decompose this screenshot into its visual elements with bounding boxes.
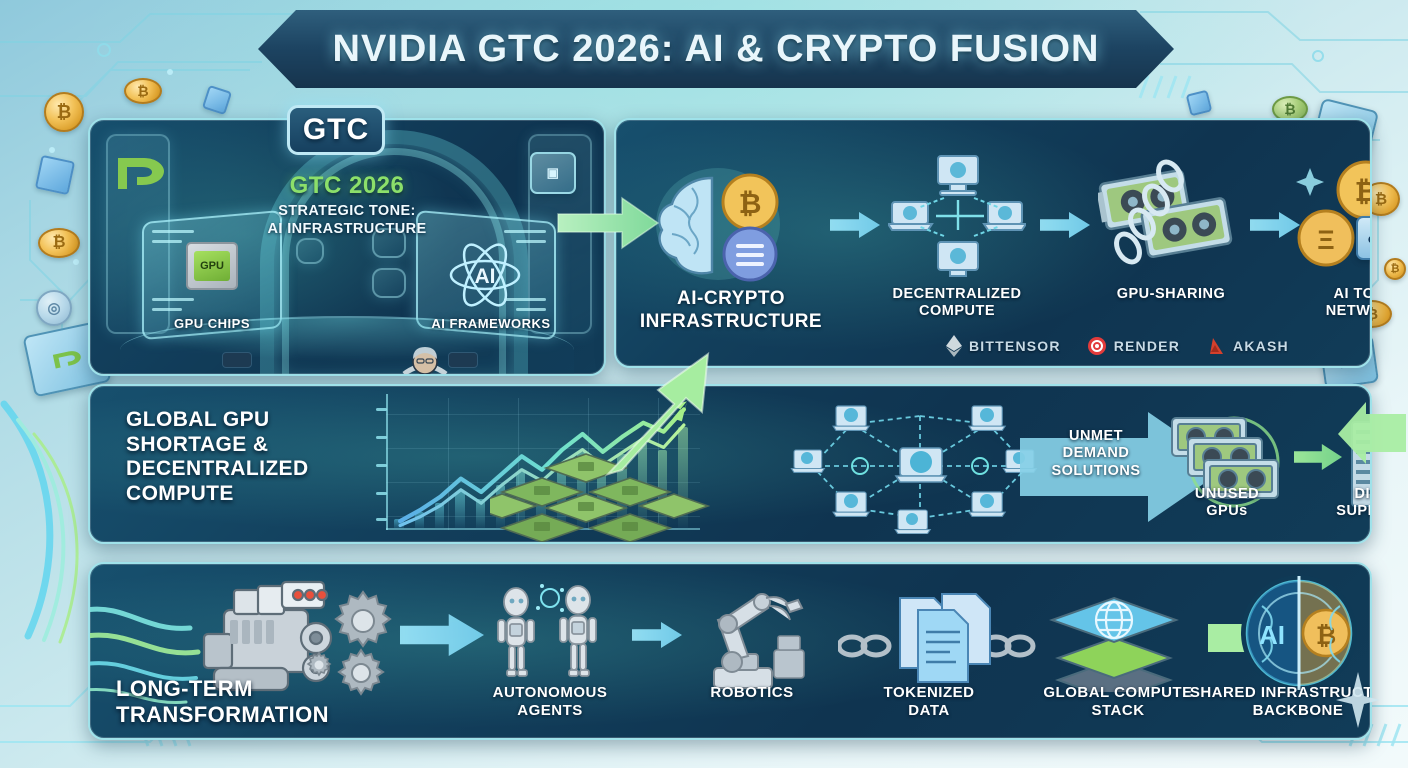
brand-render-label: RENDER <box>1114 338 1180 354</box>
shortage-node-1: UNUSED GPUs <box>1152 486 1302 521</box>
crypto-node-3-label-1: GPU-SHARING <box>1078 286 1264 303</box>
unmet-label-3: SOLUTIONS <box>1028 463 1164 480</box>
longterm-node-1: AUTONOMOUS AGENTS <box>470 684 630 720</box>
flow-arrow-keynote-to-crypto <box>556 196 660 254</box>
shortage-node-2-label-2: SUPERCOMPUTER <box>1296 503 1372 520</box>
shortage-title-1: GLOBAL GPU <box>126 408 366 433</box>
ai-atom-icon: AI <box>446 238 524 312</box>
shortage-node-1-label-1: UNUSED <box>1152 486 1302 503</box>
flow-arrow-lt-2 <box>632 622 682 648</box>
shortage-title-4: COMPUTE <box>126 482 366 507</box>
partner-brand-row: BITTENSOR RENDER AKASH <box>946 335 1289 357</box>
holo-line <box>152 240 182 243</box>
longterm-title-1: LONG-TERM <box>116 676 436 702</box>
crypto-node-2-label-1: DECENTRALIZED <box>874 286 1040 303</box>
laptop-network-cluster-icon <box>790 400 1050 534</box>
longterm-node-1-label-1: AUTONOMOUS <box>470 684 630 702</box>
holo-line <box>152 298 194 301</box>
longterm-node-3-label-2: DATA <box>836 702 1022 720</box>
robot-arm-icon <box>688 580 816 694</box>
brand-akash[interactable]: AKASH <box>1206 336 1289 356</box>
shortage-node-2-label-1: DISTRIBUTED <box>1296 486 1372 503</box>
flow-arrow-gpus-to-supercomputer <box>1294 444 1342 470</box>
gpu-chips-caption: GPU CHIPS <box>142 316 282 332</box>
crypto-infrastructure-panel: ₿ AI-CRYPTO INFRASTRUCTURE <box>614 118 1372 368</box>
gear-icon <box>332 590 394 652</box>
keynote-heading: GTC 2026 STRATEGIC TONE: AI INFRASTRUCTU… <box>90 172 604 238</box>
brand-akash-label: AKASH <box>1233 338 1289 354</box>
compute-chip-card: compute <box>1356 216 1372 260</box>
longterm-heading: LONG-TERM TRANSFORMATION <box>116 676 436 728</box>
flow-arrow-2 <box>1040 212 1090 238</box>
keynote-subtitle-1: STRATEGIC TONE: <box>90 203 604 221</box>
layered-globe-icon <box>1040 582 1200 692</box>
crypto-node-4: AI TOKEN NETWORKS <box>1290 286 1372 321</box>
keynote-year: GTC 2026 <box>90 172 604 200</box>
gpu-chip-icon: GPU <box>186 242 238 290</box>
crypto-node-4-label-2: NETWORKS <box>1290 303 1372 320</box>
longterm-title-2: TRANSFORMATION <box>116 702 436 728</box>
mini-holo-card <box>372 268 406 298</box>
long-term-transformation-panel: LONG-TERM TRANSFORMATION <box>88 562 1372 740</box>
flow-arrow-shortage-to-crypto <box>596 348 746 478</box>
longterm-node-2-label-1: ROBOTICS <box>678 684 826 702</box>
compute-chip-label: compute <box>1368 231 1372 246</box>
flow-arrow-1 <box>830 212 880 238</box>
shortage-title-3: DECENTRALIZED <box>126 457 366 482</box>
title-banner: NVIDIA GTC 2026: AI & CRYPTO FUSION <box>258 10 1174 88</box>
shortage-title-2: SHORTAGE & <box>126 433 366 458</box>
shortage-node-2: DISTRIBUTED SUPERCOMPUTER <box>1296 486 1372 521</box>
longterm-node-3-label-1: TOKENIZED <box>836 684 1022 702</box>
crypto-node-1: AI-CRYPTO INFRASTRUCTURE <box>626 288 836 334</box>
shortage-node-1-label-2: GPUs <box>1152 503 1302 520</box>
gear-icon <box>306 652 332 678</box>
humanoid-robots-icon <box>482 582 622 694</box>
sparkle-icon <box>1336 672 1380 728</box>
longterm-node-3: TOKENIZED DATA <box>836 684 1022 720</box>
ai-frameworks-caption: AI FRAMEWORKS <box>416 316 566 332</box>
svg-text:₿: ₿ <box>1355 176 1372 207</box>
crypto-node-4-label-1: AI TOKEN <box>1290 286 1372 303</box>
keynote-subtitle-2: AI INFRASTRUCTURE <box>90 221 604 239</box>
brand-bittensor-label: BITTENSOR <box>969 338 1061 354</box>
unmet-label-1: UNMET <box>1028 428 1164 445</box>
keynote-panel: ▣ GTC 2026 STRATEGIC TONE: AI INFRASTRUC… <box>88 118 606 376</box>
chain-documents-icon <box>838 584 1038 694</box>
unmet-label-2: DEMAND <box>1028 445 1164 462</box>
unmet-demand-label: UNMET DEMAND SOLUTIONS <box>1028 428 1164 480</box>
gtc-badge: GTC <box>287 105 385 155</box>
gtc-badge-label: GTC <box>303 113 369 147</box>
mini-holo-card <box>296 238 324 264</box>
svg-text:₿: ₿ <box>1316 622 1336 650</box>
page-title: NVIDIA GTC 2026: AI & CRYPTO FUSION <box>333 28 1100 71</box>
crypto-node-1-label-1: AI-CRYPTO <box>626 288 836 311</box>
crypto-node-3: GPU-SHARING <box>1078 286 1264 303</box>
diamond-icon <box>946 335 962 357</box>
render-circle-icon <box>1087 336 1107 356</box>
svg-text:Ξ: Ξ <box>1317 225 1334 255</box>
flow-arrow-lt-1 <box>400 614 484 656</box>
brain-bitcoin-icon: ₿ <box>646 162 806 288</box>
crypto-node-2-label-2: COMPUTE <box>874 303 1040 320</box>
gpu-chips-label: GPU CHIPS <box>174 316 250 331</box>
infographic-canvas: ₿ ₿ ₿ ◎ ₿ ▦ ₿ ₿ ₿ AI NVIDIA GTC 2026: AI… <box>0 0 1408 768</box>
akash-arrow-icon <box>1206 336 1226 356</box>
brand-bittensor[interactable]: BITTENSOR <box>946 335 1061 357</box>
shortage-heading: GLOBAL GPU SHORTAGE & DECENTRALIZED COMP… <box>126 408 366 506</box>
stage-speaker-box <box>448 352 478 368</box>
network-devices-icon <box>888 154 1026 280</box>
stage-speaker-box <box>222 352 252 368</box>
crypto-node-2: DECENTRALIZED COMPUTE <box>874 286 1040 321</box>
gpu-chip-label: GPU <box>194 251 230 281</box>
svg-text:AI: AI <box>475 265 496 288</box>
flow-arrow-right-feedback <box>1336 400 1408 472</box>
longterm-node-1-label-2: AGENTS <box>470 702 630 720</box>
brand-render[interactable]: RENDER <box>1087 336 1180 356</box>
longterm-node-2: ROBOTICS <box>678 684 826 702</box>
ai-frameworks-label: AI FRAMEWORKS <box>431 316 550 331</box>
crypto-node-1-label-2: INFRASTRUCTURE <box>626 311 836 334</box>
holo-line <box>152 308 182 311</box>
svg-text:₿: ₿ <box>739 188 762 219</box>
gpu-chain-icon <box>1098 152 1248 278</box>
